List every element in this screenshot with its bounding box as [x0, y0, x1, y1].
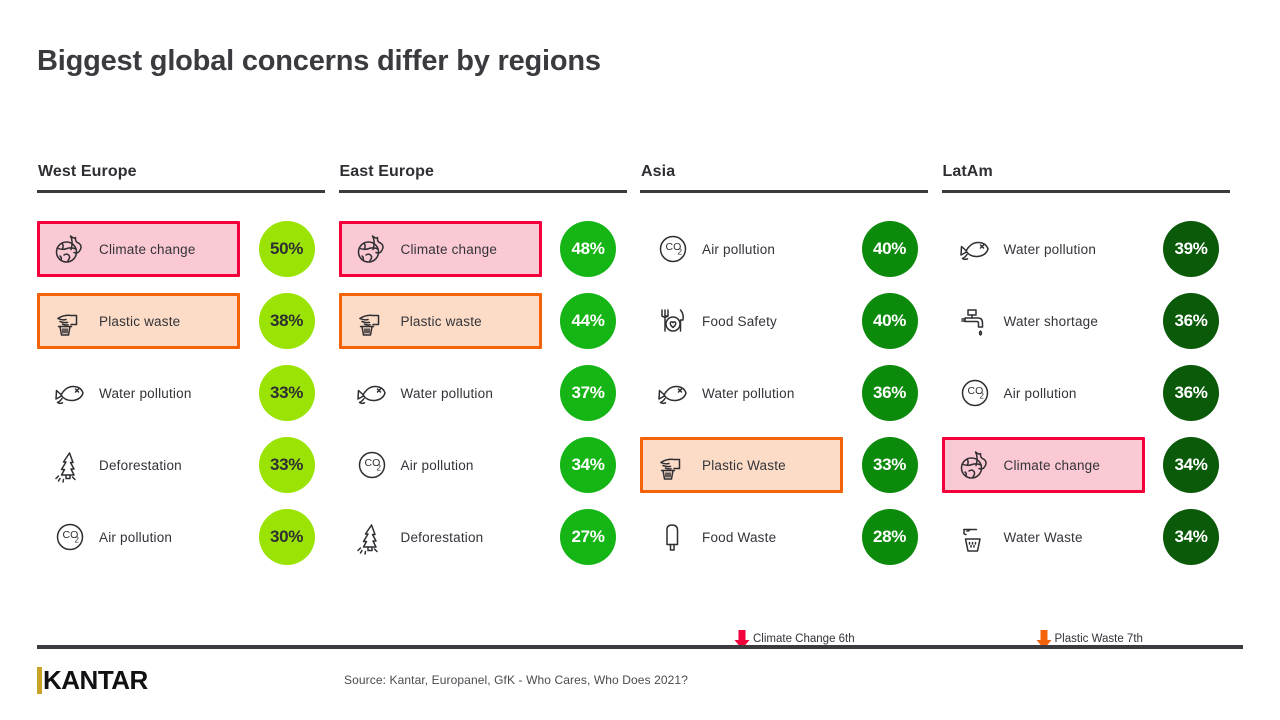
air-pollution-icon: CO 2 — [955, 373, 995, 413]
air-pollution-icon: CO 2 — [653, 229, 693, 269]
percentage-value: 33% — [270, 383, 303, 403]
concern-row: Climate change48% — [339, 213, 641, 285]
column-underline — [640, 190, 928, 193]
concern-name: Water pollution — [99, 386, 192, 401]
percentage-value: 36% — [1174, 311, 1207, 331]
concern-label-group: Deforestation — [37, 437, 240, 493]
water-pollution-icon — [955, 229, 995, 269]
percentage-value: 44% — [571, 311, 604, 331]
percentage-bubble: 38% — [259, 293, 315, 349]
concern-name: Air pollution — [1004, 386, 1077, 401]
concern-label-group: Food Safety — [640, 293, 843, 349]
percentage-value: 33% — [873, 455, 906, 475]
water-shortage-icon — [955, 301, 995, 341]
slide-root: Biggest global concerns differ by region… — [0, 0, 1280, 720]
concern-row: Deforestation27% — [339, 501, 641, 573]
column-header: LatAm — [942, 163, 1244, 190]
region-column-east-europe: East Europe Climate change48% Plastic wa… — [339, 163, 641, 573]
concern-name: Food Waste — [702, 530, 776, 545]
climate-change-icon — [50, 229, 90, 269]
plastic-waste-icon — [50, 301, 90, 341]
concern-row: CO 2 Air pollution34% — [339, 429, 641, 501]
column-header: East Europe — [339, 163, 641, 190]
percentage-bubble: 37% — [560, 365, 616, 421]
percentage-value: 34% — [1174, 455, 1207, 475]
concern-row: Plastic waste44% — [339, 285, 641, 357]
concern-name: Air pollution — [401, 458, 474, 473]
percentage-bubble: 36% — [1163, 293, 1219, 349]
region-columns: West Europe Climate change50% Plastic wa… — [37, 163, 1243, 573]
concern-name: Plastic waste — [99, 314, 180, 329]
concern-name: Air pollution — [702, 242, 775, 257]
concern-label-group: Water pollution — [640, 365, 843, 421]
percentage-bubble: 48% — [560, 221, 616, 277]
svg-text:2: 2 — [75, 536, 80, 545]
concern-row: Plastic Waste33% — [640, 429, 942, 501]
concern-label-group-highlighted: Climate change — [339, 221, 542, 277]
region-column-west-europe: West Europe Climate change50% Plastic wa… — [37, 163, 339, 573]
concern-label-group: Water pollution — [942, 221, 1145, 277]
water-waste-icon — [955, 517, 995, 557]
column-underline — [942, 190, 1230, 193]
percentage-bubble: 33% — [259, 365, 315, 421]
concern-label-group: Water pollution — [339, 365, 542, 421]
column-underline — [339, 190, 627, 193]
concern-row: Plastic waste38% — [37, 285, 339, 357]
concern-row: Climate change50% — [37, 213, 339, 285]
water-pollution-icon — [352, 373, 392, 413]
concern-row: Food Waste28% — [640, 501, 942, 573]
percentage-bubble: 34% — [560, 437, 616, 493]
concern-name: Water pollution — [1004, 242, 1097, 257]
kantar-wordmark: KANTAR — [43, 667, 148, 694]
concern-name: Plastic Waste — [702, 458, 786, 473]
concern-label-group: Water pollution — [37, 365, 240, 421]
concern-row: CO 2 Air pollution36% — [942, 357, 1244, 429]
percentage-value: 28% — [873, 527, 906, 547]
concern-label-group: CO 2 Air pollution — [640, 221, 843, 277]
column-underline — [37, 190, 325, 193]
page-title: Biggest global concerns differ by region… — [37, 45, 601, 78]
concern-label-group-highlighted: Plastic Waste — [640, 437, 843, 493]
concern-label-group-highlighted: Climate change — [37, 221, 240, 277]
concern-row: CO 2 Air pollution40% — [640, 213, 942, 285]
concern-name: Climate change — [401, 242, 498, 257]
percentage-bubble: 40% — [862, 293, 918, 349]
percentage-value: 50% — [270, 239, 303, 259]
percentage-bubble: 27% — [560, 509, 616, 565]
percentage-value: 38% — [270, 311, 303, 331]
percentage-bubble: 28% — [862, 509, 918, 565]
concern-label-group: CO 2 Air pollution — [339, 437, 542, 493]
concern-row: CO 2 Air pollution30% — [37, 501, 339, 573]
concern-name: Food Safety — [702, 314, 777, 329]
column-header: West Europe — [37, 163, 339, 190]
percentage-bubble: 33% — [259, 437, 315, 493]
percentage-value: 34% — [1174, 527, 1207, 547]
percentage-value: 36% — [873, 383, 906, 403]
source-note: Source: Kantar, Europanel, GfK - Who Car… — [344, 673, 688, 687]
concern-label-group-highlighted: Plastic waste — [339, 293, 542, 349]
percentage-value: 34% — [571, 455, 604, 475]
concern-label-group: Food Waste — [640, 509, 843, 565]
air-pollution-icon: CO 2 — [352, 445, 392, 485]
svg-text:2: 2 — [678, 248, 683, 257]
footnote-text: Plastic Waste 7th — [1055, 633, 1143, 645]
percentage-value: 30% — [270, 527, 303, 547]
concern-label-group: Deforestation — [339, 509, 542, 565]
percentage-bubble: 36% — [862, 365, 918, 421]
percentage-value: 33% — [270, 455, 303, 475]
percentage-value: 40% — [873, 311, 906, 331]
food-safety-icon — [653, 301, 693, 341]
concern-name: Water shortage — [1004, 314, 1099, 329]
svg-text:2: 2 — [376, 464, 381, 473]
concern-row: Climate change34% — [942, 429, 1244, 501]
percentage-bubble: 30% — [259, 509, 315, 565]
concern-name: Water pollution — [401, 386, 494, 401]
deforestation-icon — [50, 445, 90, 485]
climate-change-icon — [352, 229, 392, 269]
percentage-value: 40% — [873, 239, 906, 259]
percentage-value: 36% — [1174, 383, 1207, 403]
concern-name: Water pollution — [702, 386, 795, 401]
percentage-bubble: 40% — [862, 221, 918, 277]
region-column-latam: LatAm Water pollution39% Water shortage3… — [942, 163, 1244, 573]
percentage-bubble: 50% — [259, 221, 315, 277]
concern-row: Water pollution39% — [942, 213, 1244, 285]
concern-name: Deforestation — [401, 530, 484, 545]
concern-label-group: Water Waste — [942, 509, 1145, 565]
svg-text:2: 2 — [979, 392, 984, 401]
concern-row: Water pollution37% — [339, 357, 641, 429]
percentage-bubble: 34% — [1163, 509, 1219, 565]
food-waste-icon — [653, 517, 693, 557]
percentage-bubble: 33% — [862, 437, 918, 493]
concern-name: Air pollution — [99, 530, 172, 545]
footnote-text: Climate Change 6th — [753, 633, 855, 645]
percentage-bubble: 39% — [1163, 221, 1219, 277]
concern-label-group: Water shortage — [942, 293, 1145, 349]
deforestation-icon — [352, 517, 392, 557]
percentage-value: 27% — [571, 527, 604, 547]
water-pollution-icon — [653, 373, 693, 413]
plastic-waste-icon — [352, 301, 392, 341]
climate-change-icon — [955, 445, 995, 485]
concern-row: Water pollution33% — [37, 357, 339, 429]
percentage-value: 37% — [571, 383, 604, 403]
column-header: Asia — [640, 163, 942, 190]
region-column-asia: Asia CO 2 Air pollution40% Food Safety40… — [640, 163, 942, 573]
concern-row: Deforestation33% — [37, 429, 339, 501]
concern-row: Water pollution36% — [640, 357, 942, 429]
concern-row: Water shortage36% — [942, 285, 1244, 357]
percentage-bubble: 34% — [1163, 437, 1219, 493]
concern-label-group: CO 2 Air pollution — [37, 509, 240, 565]
kantar-accent-bar — [37, 667, 42, 694]
concern-name: Climate change — [99, 242, 196, 257]
percentage-value: 39% — [1174, 239, 1207, 259]
water-pollution-icon — [50, 373, 90, 413]
concern-name: Water Waste — [1004, 530, 1083, 545]
concern-row: Water Waste34% — [942, 501, 1244, 573]
air-pollution-icon: CO 2 — [50, 517, 90, 557]
plastic-waste-icon — [653, 445, 693, 485]
concern-label-group: CO 2 Air pollution — [942, 365, 1145, 421]
percentage-bubble: 36% — [1163, 365, 1219, 421]
concern-label-group-highlighted: Climate change — [942, 437, 1145, 493]
concern-name: Plastic waste — [401, 314, 482, 329]
concern-name: Climate change — [1004, 458, 1101, 473]
concern-label-group-highlighted: Plastic waste — [37, 293, 240, 349]
percentage-bubble: 44% — [560, 293, 616, 349]
kantar-logo: KANTAR — [37, 667, 148, 694]
percentage-value: 48% — [571, 239, 604, 259]
footer-divider — [37, 645, 1243, 649]
concern-name: Deforestation — [99, 458, 182, 473]
concern-row: Food Safety40% — [640, 285, 942, 357]
